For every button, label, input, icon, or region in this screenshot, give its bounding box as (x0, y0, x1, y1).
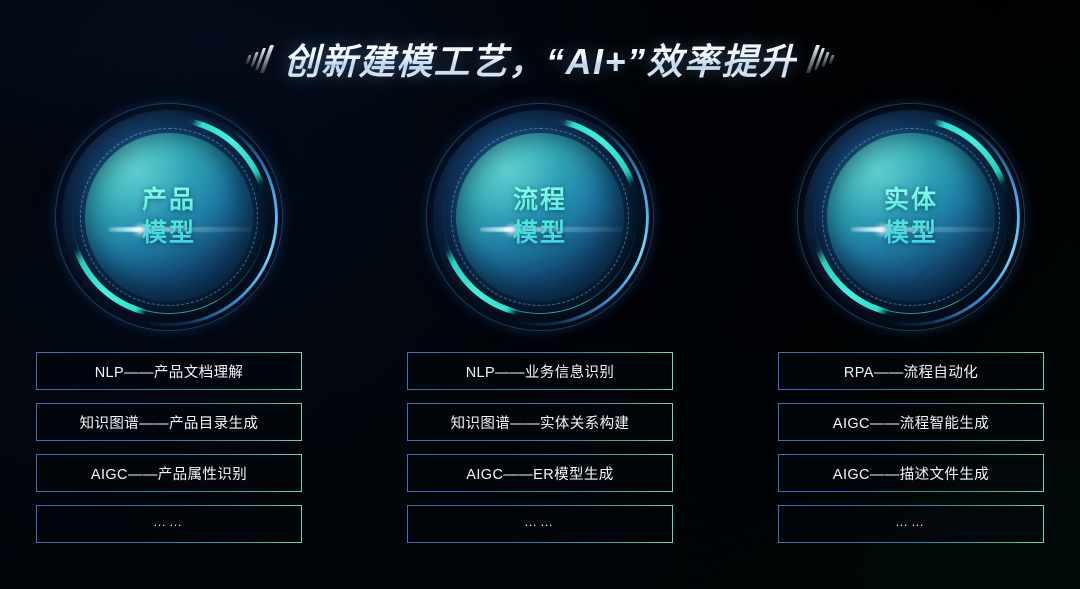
orb-sphere: 流程 模型 (456, 133, 624, 301)
orb-label-line-2: 模型 (884, 217, 938, 251)
tag-box[interactable]: NLP——业务信息识别 (407, 352, 673, 390)
orb-label-line-1: 实体 (884, 184, 938, 218)
column-entity-model: 实体 模型 RPA——流程自动化 AIGC——流程智能生成 AIGC——描 (775, 98, 1047, 568)
orb-label-line-1: 流程 (513, 184, 567, 218)
orb-label: 实体 模型 (884, 184, 938, 251)
orb-sphere: 产品 模型 (85, 133, 253, 301)
tag-list-product-model: NLP——产品文档理解 知识图谱——产品目录生成 AIGC——产品属性识别 …… (36, 352, 302, 543)
tag-label: NLP——业务信息识别 (466, 361, 615, 382)
slide-canvas: 创新建模工艺，“AI+”效率提升 产品 (0, 0, 1080, 589)
tag-box[interactable]: 知识图谱——实体关系构建 (407, 403, 673, 441)
orb-label-line-2: 模型 (513, 217, 567, 251)
tag-box[interactable]: AIGC——描述文件生成 (778, 454, 1044, 492)
orb-label: 流程 模型 (513, 184, 567, 251)
tag-label: AIGC——描述文件生成 (833, 463, 989, 484)
orb-label-line-2: 模型 (142, 217, 196, 251)
title-decoration-right-icon (811, 44, 833, 74)
columns-container: 产品 模型 NLP——产品文档理解 知识图谱——产品目录生成 AIGC—— (0, 98, 1080, 568)
tag-box-more[interactable]: …… (36, 505, 302, 543)
tag-box-more[interactable]: …… (778, 505, 1044, 543)
orb-label: 产品 模型 (142, 184, 196, 251)
tag-box[interactable]: AIGC——ER模型生成 (407, 454, 673, 492)
tag-box-more[interactable]: …… (407, 505, 673, 543)
orb-sphere: 实体 模型 (827, 133, 995, 301)
orb-process-model[interactable]: 流程 模型 (416, 98, 664, 336)
column-product-model: 产品 模型 NLP——产品文档理解 知识图谱——产品目录生成 AIGC—— (33, 98, 305, 568)
tag-label: NLP——产品文档理解 (95, 361, 244, 382)
tag-label: RPA——流程自动化 (844, 361, 978, 382)
tag-label: 知识图谱——产品目录生成 (80, 412, 259, 433)
tag-label: AIGC——产品属性识别 (91, 463, 247, 484)
tag-box[interactable]: 知识图谱——产品目录生成 (36, 403, 302, 441)
tag-list-entity-model: RPA——流程自动化 AIGC——流程智能生成 AIGC——描述文件生成 …… (778, 352, 1044, 543)
tag-label: …… (524, 514, 556, 529)
tag-list-process-model: NLP——业务信息识别 知识图谱——实体关系构建 AIGC——ER模型生成 …… (407, 352, 673, 543)
tag-label: …… (895, 514, 927, 529)
orb-product-model[interactable]: 产品 模型 (45, 98, 293, 336)
page-title: 创新建模工艺，“AI+”效率提升 (283, 33, 796, 85)
tag-label: 知识图谱——实体关系构建 (451, 412, 630, 433)
tag-label: AIGC——ER模型生成 (466, 463, 613, 484)
tag-box[interactable]: RPA——流程自动化 (778, 352, 1044, 390)
tag-box[interactable]: AIGC——流程智能生成 (778, 403, 1044, 441)
orb-label-line-1: 产品 (142, 184, 196, 218)
title-decoration-left-icon (247, 44, 269, 74)
slide-title-row: 创新建模工艺，“AI+”效率提升 (0, 33, 1080, 85)
orb-entity-model[interactable]: 实体 模型 (787, 98, 1035, 336)
tag-label: …… (153, 514, 185, 529)
tag-label: AIGC——流程智能生成 (833, 412, 989, 433)
tag-box[interactable]: AIGC——产品属性识别 (36, 454, 302, 492)
tag-box[interactable]: NLP——产品文档理解 (36, 352, 302, 390)
column-process-model: 流程 模型 NLP——业务信息识别 知识图谱——实体关系构建 AIGC—— (404, 98, 676, 568)
